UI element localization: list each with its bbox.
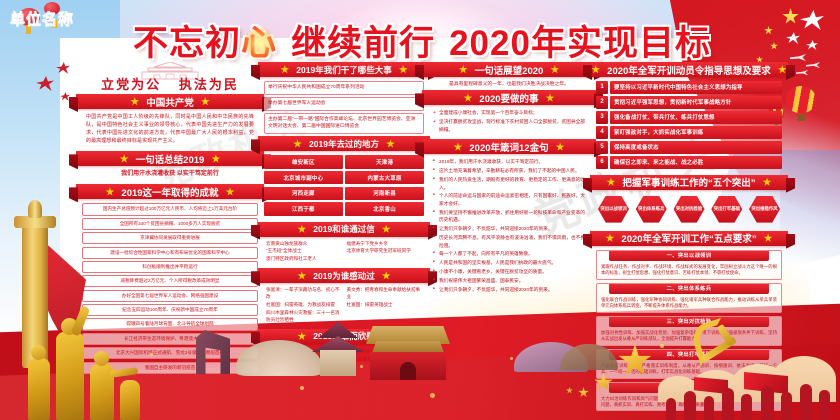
moved-item: 张富清：一辈子深藏功与名、初心不改 (266, 287, 342, 301)
title-part-2: 继续前行 (291, 15, 435, 66)
hot-air-balloon-icon (786, 86, 816, 122)
highlight-hexagons: 突出以战领训突出体系练兵突出对抗检验突出打牢基础突出维稳作风 (598, 196, 780, 223)
banner-label: 中国共产党 (146, 95, 194, 109)
poster-canvas: 单位名称 不忘初心 继续前行 2020年实现目标 党政机关 党政机关 立党为公 … (0, 0, 840, 420)
achievement-item: 科创板顺利推出并平稳运行 (82, 261, 258, 273)
star-icon (399, 65, 408, 74)
star-icon (297, 225, 306, 234)
party-description: 中国共产党是中国工人阶级的先锋队，同时是中国人民和中华民族的先锋队，是中国特色社… (86, 113, 254, 145)
todo-item: 全面建成小康社会，实现第一个百年奋斗目标； (433, 109, 585, 117)
banner-mobilize: 2020年全军开训动员令指导思想及要求 (590, 62, 788, 77)
mobilize-text: 紧盯强敌对手，大抓实战化军事训练 (610, 126, 782, 139)
star-icon (226, 187, 235, 196)
banner-label: 2019为谁感动过 (313, 270, 374, 282)
place-cell: 雄安新区 (264, 155, 343, 168)
letter-item: 福建寿宁下党乡乡亲 (347, 241, 423, 248)
requirement-section-head: 二、突出体系练兵 (609, 284, 769, 295)
star-icon (297, 271, 306, 280)
letter-item: 澳门特区政府和社工老人 (266, 256, 342, 263)
banner-five-highlights: 把握军事训练工作的“五个突出” (590, 175, 788, 190)
golden-quote-item: 让我们只争朝夕，不负韶华，共同迎接2020年的到来。 (433, 225, 585, 233)
golden-quote-item: 个人的前途命运与国家的前途命运紧密相连，只有国家好、民族好，大家才会好。 (433, 192, 585, 207)
mobilize-row: 1要坚持以习近平新时代中国特色社会主义思想为指导 (596, 81, 782, 94)
star-icon (120, 154, 129, 163)
todo-item: 坚决打赢脱贫攻坚战，现行标准下农村贫困人口全部脱贫，贫困县全部摘帽。 (433, 118, 585, 133)
sparkle-dot (360, 365, 363, 368)
requirement-section: 二、突出体系练兵强化联合作战训练，强化军种协同训练、强化诸军兵种联合作战能力，推… (596, 283, 782, 313)
place-cell: 北京香山 (345, 202, 424, 215)
motto-right: 执法为民 (179, 77, 239, 92)
star-icon (606, 178, 615, 187)
sparkle-dot (660, 344, 664, 348)
golden-quote-item: 人民是共和国的坚实根基，人民是我们执政的最大底气。 (433, 259, 585, 267)
place-cell: 河南新县 (345, 187, 424, 200)
golden-quotes-list: 2019年，我们用汗水浇灌收获，以实干笃定前行。这片土地充满着希望，辛勤耕耘必有… (433, 158, 585, 293)
requirement-section-text: 紧跟作战任务、作战对手、作战环境、作战样式的发展变化，牢固树立战斗力这个唯一的根… (597, 261, 781, 276)
column-three: 一句话展望2020 是具有里程碑意义的一年，也是我们决胜决战决胜之年。 2020… (428, 62, 590, 299)
star-icon (382, 225, 391, 234)
events-list: 举行庆祝中华人民共和国成立70周年系列活动举办第七届世界军人运动会主办第二届"一… (264, 81, 424, 134)
place-cell: 天津港 (345, 155, 424, 168)
banner-summary: 一句话总结2019 (76, 151, 264, 166)
star-icon (556, 142, 565, 151)
highlight-hexagon: 突出对抗检验 (674, 196, 705, 223)
star-icon (591, 65, 600, 74)
event-item: 举办第七届世界军人运动会 (264, 97, 424, 111)
sparkle-dot (510, 357, 513, 360)
mobilize-text: 保持高度戒备状态 (610, 141, 782, 154)
golden-quote-item: 我们要坚持不懈推进改革开放，抓住用好新一轮科技革命和产业变革的历史机遇。 (433, 209, 585, 224)
star-icon (453, 142, 462, 151)
golden-quote-item: 历史长河奔腾不息，有风平浪静也有波涛汹涌，我们不惧风雨，也不畏险阻。 (433, 234, 585, 249)
event-item: 举行庆祝中华人民共和国成立70周年系列活动 (264, 81, 424, 95)
star-icon (763, 178, 772, 187)
banner-achievements: 2019这一年取得的成就 (76, 184, 264, 199)
letter-item: 北京体育大学研究生冠军班同学 (347, 248, 423, 255)
letter-item: "王杰班"全体战士 (266, 248, 342, 255)
letter-item: 云南贡山独龙族群众 (266, 241, 342, 248)
mobilize-text: 确保召之即来、来之能战、战之必胜 (610, 156, 782, 169)
mobilize-list: 1要坚持以习近平新时代中国特色社会主义思想为指导2贯彻习近平强军思想，贯彻新时代… (596, 81, 782, 169)
summary-subtitle: 我们用汗水浇灌收获 以实干笃定前行 (84, 170, 256, 179)
achievement-item: 减税降费超过2万亿元、个人所得税改革成效明显 (82, 275, 258, 287)
mobilize-number: 2 (596, 96, 608, 109)
golden-quote-item: 我们祝愿伟大祖国繁荣昌盛、国泰民安。 (433, 277, 585, 285)
monument-statues-icon (22, 322, 152, 420)
achievement-item: 国内生产总值预计超过100万亿元人民币、人均将迈上1万美元台阶 (82, 203, 258, 215)
highlight-hexagon: 突出维稳作风 (749, 196, 780, 223)
mobilize-number: 5 (596, 141, 608, 154)
banner-moved: 2019为谁感动过 (258, 268, 430, 283)
star-icon (211, 154, 220, 163)
banner-label: 2020年全军开训动员令指导思想及要求 (607, 63, 771, 77)
letters-list: 云南贡山独龙族群众福建寿宁下党乡乡亲"王杰班"全体战士北京体育大学研究生冠军班同… (266, 241, 422, 264)
banner-label: 2019和谁通过信 (313, 223, 374, 235)
outlook-subtitle: 是具有里程碑意义的一年，也是我们决胜决战决胜之年。 (432, 81, 586, 88)
highlight-hexagon: 突出打牢基础 (711, 196, 742, 223)
column-one-title: 立党为公 执法为民 (82, 74, 258, 93)
temple-of-heaven-icon (308, 322, 368, 378)
golden-quote-item: 我们的人民热爱生活，期盼有更好的教育、更稳定的工作、更满意的收入。 (433, 176, 585, 191)
star-icon (280, 65, 289, 74)
moved-item: 黄文秀：把青春和生命奉献给扶贫事业 (347, 287, 423, 301)
banner-todo: 2020要做的事 (422, 90, 596, 105)
banner-label: 2019年我们干了哪些大事 (296, 64, 391, 76)
banner-five-requirements: 2020年全军开训工作“五点要求” (590, 231, 788, 246)
mobilize-number: 6 (596, 156, 608, 169)
star-icon (546, 93, 555, 102)
golden-quote-item: 这片土地充满着希望，辛勤耕耘必有所获，我们了不起的中国人民。 (433, 167, 585, 175)
banner-label: 2019这一年取得的成就 (121, 185, 218, 199)
banner-outlook: 一句话展望2020 (422, 62, 596, 77)
golden-quote-item: 小康不小康，关键看老乡，关键在脱贫攻坚的质量。 (433, 268, 585, 276)
star-icon (550, 65, 559, 74)
mobilize-row: 6确保召之即来、来之能战、战之必胜 (596, 156, 782, 169)
star-icon (463, 93, 472, 102)
golden-quote-item: 2019年，我们用汗水浇灌收获，以实干笃定前行。 (433, 158, 585, 166)
mobilize-row: 3强化备战打仗、带兵打仗、练兵打仗思想 (596, 111, 782, 124)
title-part-3: 2020年实现目标 (449, 15, 711, 66)
place-cell: 河西走廊 (264, 187, 343, 200)
star-icon (778, 65, 787, 74)
requirement-section: 一、突出以战领训紧跟作战任务、作战对手、作战环境、作战样式的发展变化，牢固树立战… (596, 250, 782, 280)
mobilize-text: 贯彻习近平强军思想，贯彻新时代军事战略方针 (610, 96, 782, 109)
tiananmen-icon (366, 326, 450, 380)
sparkle-dot (300, 386, 304, 390)
org-name: 单位名称 (10, 8, 74, 29)
golden-quote-item: 每一个人都了不起，向所有平凡的英雄致敬。 (433, 250, 585, 258)
gate-header: 立党为公 执法为民 (82, 62, 258, 92)
golden-quote-item: 让我们只争朝夕，不负韶华，共同迎接2020年的到来。 (433, 286, 585, 294)
page-title: 不忘初心 继续前行 2020年实现目标 (112, 18, 732, 62)
star-icon (293, 139, 302, 148)
highlight-hexagon: 突出体系练兵 (636, 196, 667, 223)
banner-label: 一句话展望2020 (475, 63, 544, 77)
mobilize-text: 要坚持以习近平新时代中国特色社会主义思想为指导 (610, 81, 782, 94)
banner-label: 把握军事训练工作的“五个突出” (622, 175, 755, 189)
achievement-item: 京津冀协同发展取得重要进展 (82, 232, 258, 244)
mobilize-number: 3 (596, 111, 608, 124)
star-icon (764, 234, 773, 243)
star-icon (382, 271, 391, 280)
star-icon (130, 97, 139, 106)
banner-label: 2020年全军开训工作“五点要求” (621, 231, 756, 245)
moved-item: 杜富国：排雷英雄战士 (347, 302, 423, 309)
todo-list: 全面建成小康社会，实现第一个百年奋斗目标；坚决打赢脱贫攻坚战，现行标准下农村贫困… (433, 109, 585, 133)
requirement-section-text: 强化联合作战训练，强化军种协同训练、强化诸军兵种联合作战能力，推动训练从单兵单装… (597, 294, 781, 309)
achievement-item: 建设一批综合性国家科学中心和有布局优化的国家科学中心 (82, 247, 258, 259)
mobilize-number: 1 (596, 81, 608, 94)
banner-events: 2019年我们干了哪些大事 (258, 62, 430, 77)
banner-label: 2020年箴词12金句 (469, 140, 548, 154)
places-grid: 雄安新区天津港北京城市副中心内蒙古大草原河西走廊河南新县江西于都北京香山 (264, 155, 424, 215)
sparkle-dot (430, 393, 435, 398)
banner-party: 中国共产党 (76, 94, 264, 109)
banner-letters: 2019和谁通过信 (258, 222, 430, 237)
crowd-celebration-icon (610, 328, 840, 420)
achievement-item: 全国所有340个贫困县摘帽、1000多万人实现脱贫 (82, 218, 258, 230)
mobilize-text: 强化备战打仗、带兵打仗、练兵打仗思想 (610, 111, 782, 124)
place-cell: 北京城市副中心 (264, 171, 343, 184)
banner-label: 2020要做的事 (479, 91, 538, 105)
moved-item: 杜富国：扫雷英雄、为救战友排雷 (266, 302, 342, 309)
requirement-section-head: 一、突出以战领训 (609, 251, 769, 262)
place-cell: 内蒙古大草原 (345, 171, 424, 184)
event-item: 主办第二届"一带一路"国际合作高峰论坛、北京世界园艺博览会、亚洲文明对话大会、第… (264, 113, 424, 133)
banner-golden: 2020年箴词12金句 (422, 139, 596, 154)
title-part-1: 不忘初心 (133, 15, 277, 66)
highlight-hexagon: 突出以战领训 (598, 196, 629, 223)
banner-places: 2019年去过的地方 (258, 136, 430, 151)
star-icon (386, 139, 395, 148)
mobilize-row: 5保持高度戒备状态 (596, 141, 782, 154)
place-cell: 江西于都 (264, 202, 343, 215)
mobilize-row: 4紧盯强敌对手，大抓实战化军事训练 (596, 126, 782, 139)
star-icon (201, 97, 210, 106)
motto-left: 立党为公 (101, 77, 161, 92)
title-heart-glyph: 心 (241, 24, 277, 63)
star-icon (459, 65, 468, 74)
mobilize-number: 4 (596, 126, 608, 139)
sparkle-dot (150, 353, 153, 356)
achievement-item: 办好全国第七届世界军人运动会、网络强国建设 (82, 290, 258, 302)
banner-label: 一句话总结2019 (136, 152, 205, 166)
banner-label: 2019年去过的地方 (309, 138, 379, 150)
cctv-tower-icon (196, 330, 230, 374)
star-icon (605, 234, 614, 243)
mobilize-row: 2贯彻习近平强军思想，贯彻新时代军事战略方针 (596, 96, 782, 109)
star-icon (105, 187, 114, 196)
